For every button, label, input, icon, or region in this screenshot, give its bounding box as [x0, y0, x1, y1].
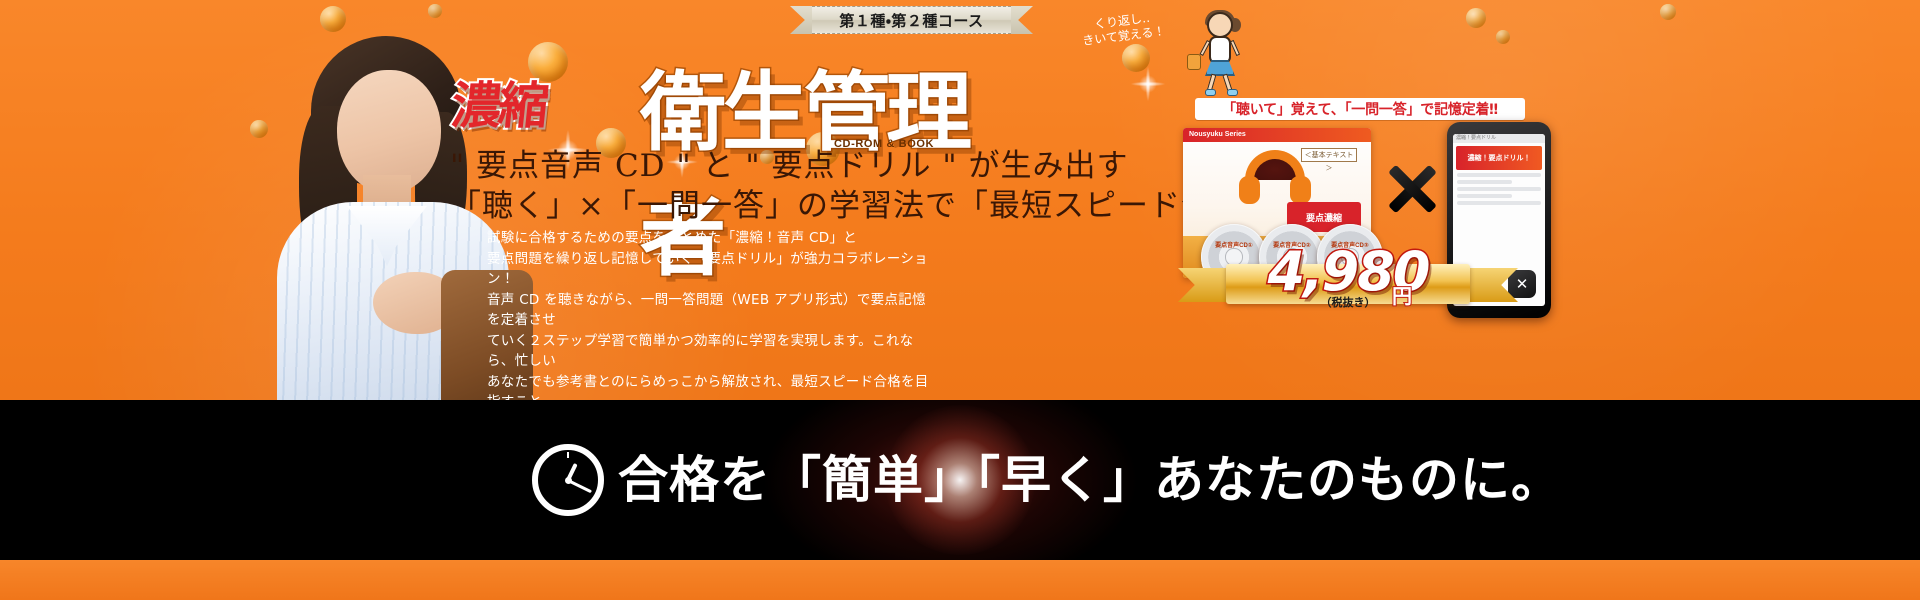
clock-icon — [532, 444, 604, 516]
slogan-band: 合格を「簡単」「早く」あなたのものに。 — [0, 400, 1920, 560]
description-line: 音声 CD を聴きながら、一問一答問題（WEB アプリ形式）で要点記憶を定着させ — [487, 290, 937, 331]
bubble-decoration — [428, 4, 442, 18]
tagline-line-2: 「聴く」×「一問一答」の学習法で「最短スピード合格」 — [450, 180, 1277, 225]
description-line: 試験に合格するための要点をまとめた「濃縮！音声 CD」と — [487, 228, 937, 249]
bubble-decoration — [1660, 4, 1676, 20]
course-ribbon-label: 第１種・第２種コース — [790, 6, 1033, 34]
package-band-label: Nousyuku Series — [1183, 128, 1371, 138]
phone-status-bar: 濃縮！要点ドリル — [1453, 134, 1545, 143]
promo-headline: 「聴いて」覚えて、「一問一答」で記憶定着‼ — [1195, 98, 1525, 120]
phone-content-line — [1457, 180, 1512, 184]
phone-content-line — [1457, 201, 1541, 205]
description-line: あなたでも参考書とのにらめっこから解放され、最短スピード合格を目指すこと — [487, 372, 937, 401]
phone-app-title: 濃縮！要点ドリル！ — [1456, 146, 1542, 170]
description-line: 要点問題を繰り返し記憶していく「要点ドリル」が強力コラボレーション！ — [487, 249, 937, 290]
walking-girl-icon — [1185, 10, 1259, 96]
description-line: ていく２ステップ学習で簡単かつ効率的に学習を実現します。これなら、忙しい — [487, 331, 937, 372]
title-badge-nousyuku: 濃縮 — [448, 66, 550, 138]
hero-section: 第１種・第２種コース 濃縮 衛生管理者 CD-ROM & BOOK " 要点音声… — [0, 0, 1920, 400]
product-title: 濃縮 衛生管理者 CD-ROM & BOOK — [452, 42, 972, 138]
phone-content-line — [1457, 187, 1541, 191]
bubble-decoration — [1466, 8, 1486, 28]
course-ribbon: 第１種・第２種コース — [790, 6, 1033, 34]
price-tax-note: （税抜き） — [1178, 294, 1518, 310]
phone-content-line — [1457, 194, 1512, 198]
cross-multiply-icon — [1385, 162, 1439, 216]
price-block: 4,980 円 （税抜き） — [1178, 240, 1518, 322]
bubble-decoration — [1122, 44, 1150, 72]
clock-tick — [567, 452, 569, 458]
hero-banner: 第１種・第２種コース 濃縮 衛生管理者 CD-ROM & BOOK " 要点音声… — [0, 0, 1920, 600]
headphones-cup-right — [1290, 176, 1311, 204]
package-band: Nousyuku Series — [1183, 128, 1371, 142]
footer-strip — [0, 560, 1920, 600]
description-paragraph: 試験に合格するための要点をまとめた「濃縮！音声 CD」と 要点問題を繰り返し記憶… — [487, 228, 937, 400]
bubble-decoration — [1496, 30, 1510, 44]
walker-audio-player — [1187, 54, 1201, 70]
headphones-cup-left — [1239, 176, 1260, 204]
walker-skirt — [1205, 60, 1235, 76]
phone-content-line — [1457, 173, 1541, 177]
walker-arm-right — [1230, 40, 1240, 56]
walker-caption: くり返し‥ きいて覚える！ — [1067, 7, 1180, 50]
walker-shoe-left — [1205, 89, 1216, 96]
tagline-line-1: " 要点音声 CD " と " 要点ドリル " が生み出す — [450, 140, 1128, 185]
clock-center-pin — [565, 477, 572, 484]
package-note: ＜基本テキスト＞ — [1301, 148, 1357, 162]
slogan-text: 合格を「簡単」「早く」あなたのものに。 — [618, 440, 1562, 512]
walker-body — [1209, 36, 1231, 64]
walker-head — [1207, 12, 1233, 38]
walker-shoe-right — [1227, 89, 1238, 96]
